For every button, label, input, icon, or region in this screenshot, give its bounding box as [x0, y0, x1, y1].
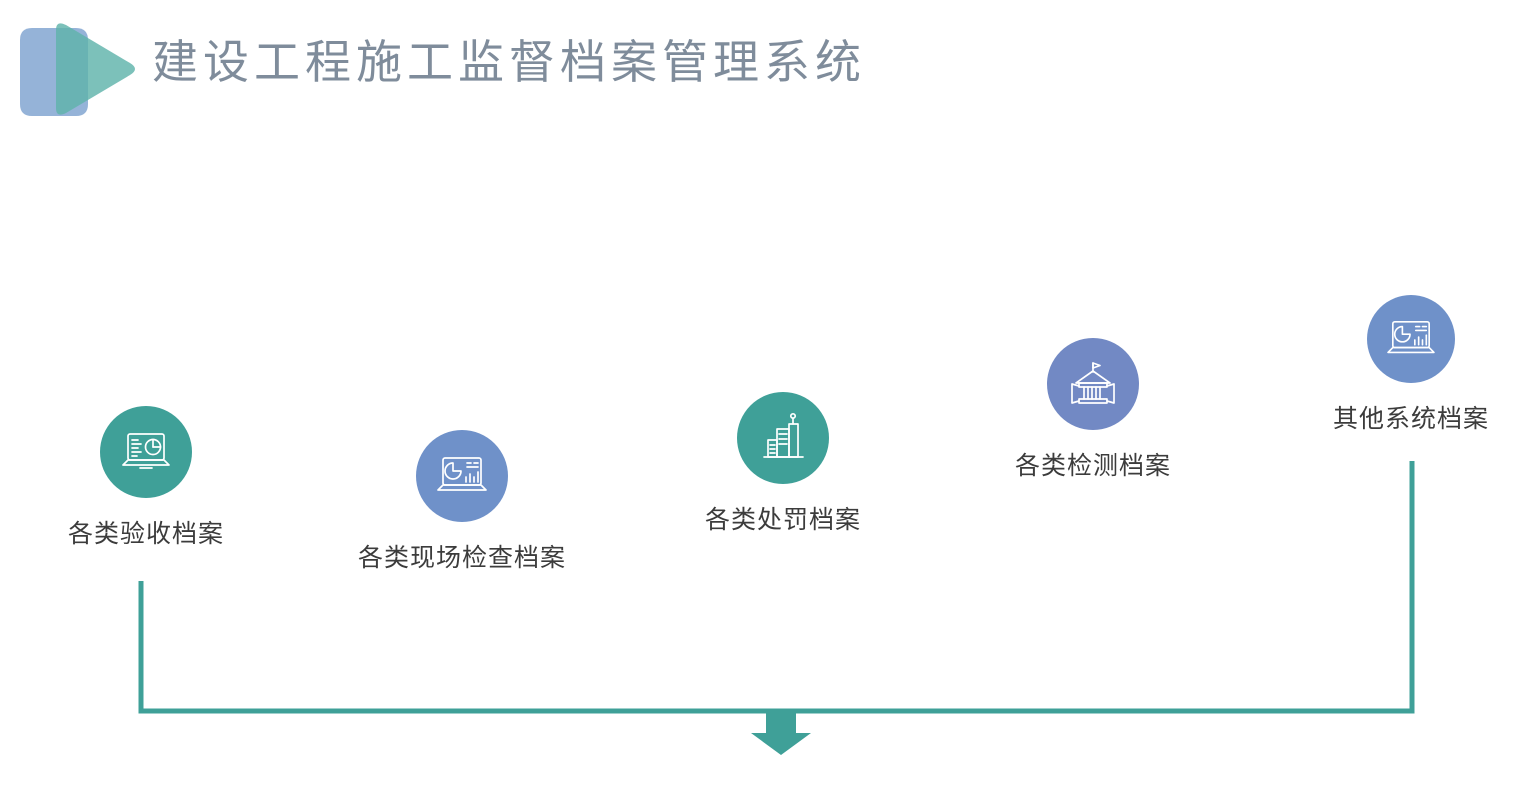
play-triangle-logo: [14, 16, 140, 126]
government-building-flag-icon: [1047, 338, 1139, 430]
archive-node-testing[interactable]: 各类检测档案: [965, 338, 1221, 482]
action-button-bar: 归档 统计 分类 查询 下载: [0, 748, 1513, 810]
archive-node-penalty[interactable]: 各类处罚档案: [655, 392, 911, 536]
city-buildings-icon: [737, 392, 829, 484]
monitor-pie-bar-chart-icon: [416, 430, 508, 522]
archive-node-label: 各类处罚档案: [705, 500, 861, 536]
archive-node-other-systems[interactable]: 其他系统档案: [1283, 295, 1513, 435]
page-title: 建设工程施工监督档案管理系统: [152, 36, 866, 89]
archive-node-label: 其他系统档案: [1333, 399, 1489, 435]
archive-node-site-inspection[interactable]: 各类现场检查档案: [334, 430, 590, 574]
laptop-pie-chart-icon: [100, 406, 192, 498]
page-header: 建设工程施工监督档案管理系统: [0, 0, 1513, 140]
laptop-pie-bar-chart-icon: [1367, 295, 1455, 383]
archive-node-acceptance[interactable]: 各类验收档案: [18, 406, 274, 550]
slide-canvas: 建设工程施工监督档案管理系统: [0, 0, 1513, 810]
archive-node-label: 各类检测档案: [1015, 446, 1171, 482]
archive-node-label: 各类现场检查档案: [358, 538, 566, 574]
archive-node-label: 各类验收档案: [68, 514, 224, 550]
